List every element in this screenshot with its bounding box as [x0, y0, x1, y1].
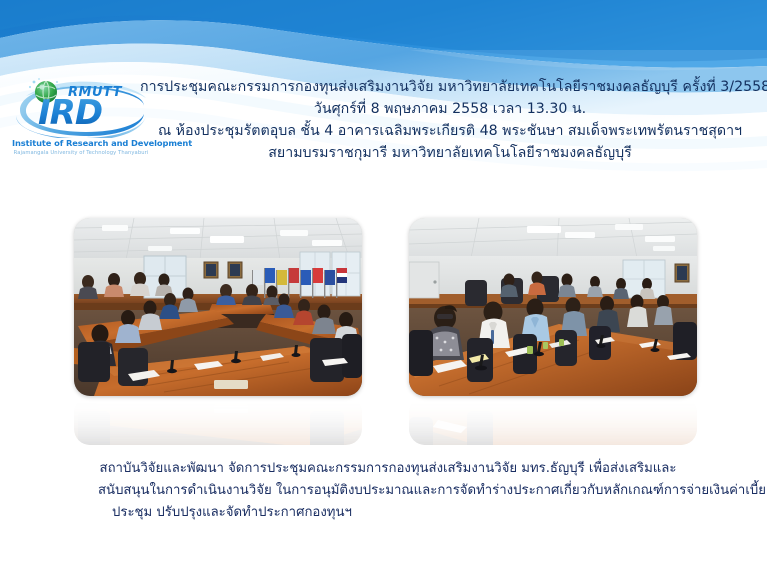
meeting-room-wide-photo: [74, 218, 362, 396]
caption-line-1: สถาบันวิจัยและพัฒนา จัดการประชุมคณะกรรมก…: [98, 458, 678, 480]
header-line-2: วันศุกร์ที่ 8 พฤษภาคม 2558 เวลา 13.30 น.: [140, 98, 760, 120]
header-line-1: การประชุมคณะกรรมการกองทุนส่งเสริมงานวิจั…: [140, 76, 760, 98]
meeting-attendees-photo: [409, 218, 697, 396]
ird-logo-mark: RMUTT IRD: [12, 76, 150, 138]
photo-wrap-right: [409, 218, 697, 396]
caption-line-2: สนับสนุนในการดำเนินงานวิจัย ในการอนุมัติ…: [98, 480, 678, 502]
logo-university-line: Rajamangala University of Technology Tha…: [12, 150, 150, 156]
photo-reflection-right: [409, 397, 697, 445]
ird-logo: RMUTT IRD Institute of Research and Deve…: [12, 76, 150, 168]
presentation-slide: RMUTT IRD Institute of Research and Deve…: [0, 0, 767, 576]
slide-header: การประชุมคณะกรรมการกองทุนส่งเสริมงานวิจั…: [140, 76, 760, 164]
photo-row: [0, 218, 767, 448]
photo-reflection-left: [74, 397, 362, 445]
logo-institute-line: Institute of Research and Development: [12, 138, 150, 148]
caption-line-3: ประชุม ปรับปรุงและจัดทำประกาศกองทุนฯ: [98, 502, 678, 524]
photo-wrap-left: [74, 218, 362, 396]
header-line-4: สยามบรมราชกุมารี มหาวิทยาลัยเทคโนโลยีราช…: [140, 142, 760, 164]
svg-text:IRD: IRD: [38, 93, 102, 133]
header-line-3: ณ ห้องประชุมรัตตอุบล ชั้น 4 อาคารเฉลิมพร…: [140, 120, 760, 142]
slide-caption: สถาบันวิจัยและพัฒนา จัดการประชุมคณะกรรมก…: [98, 458, 678, 524]
